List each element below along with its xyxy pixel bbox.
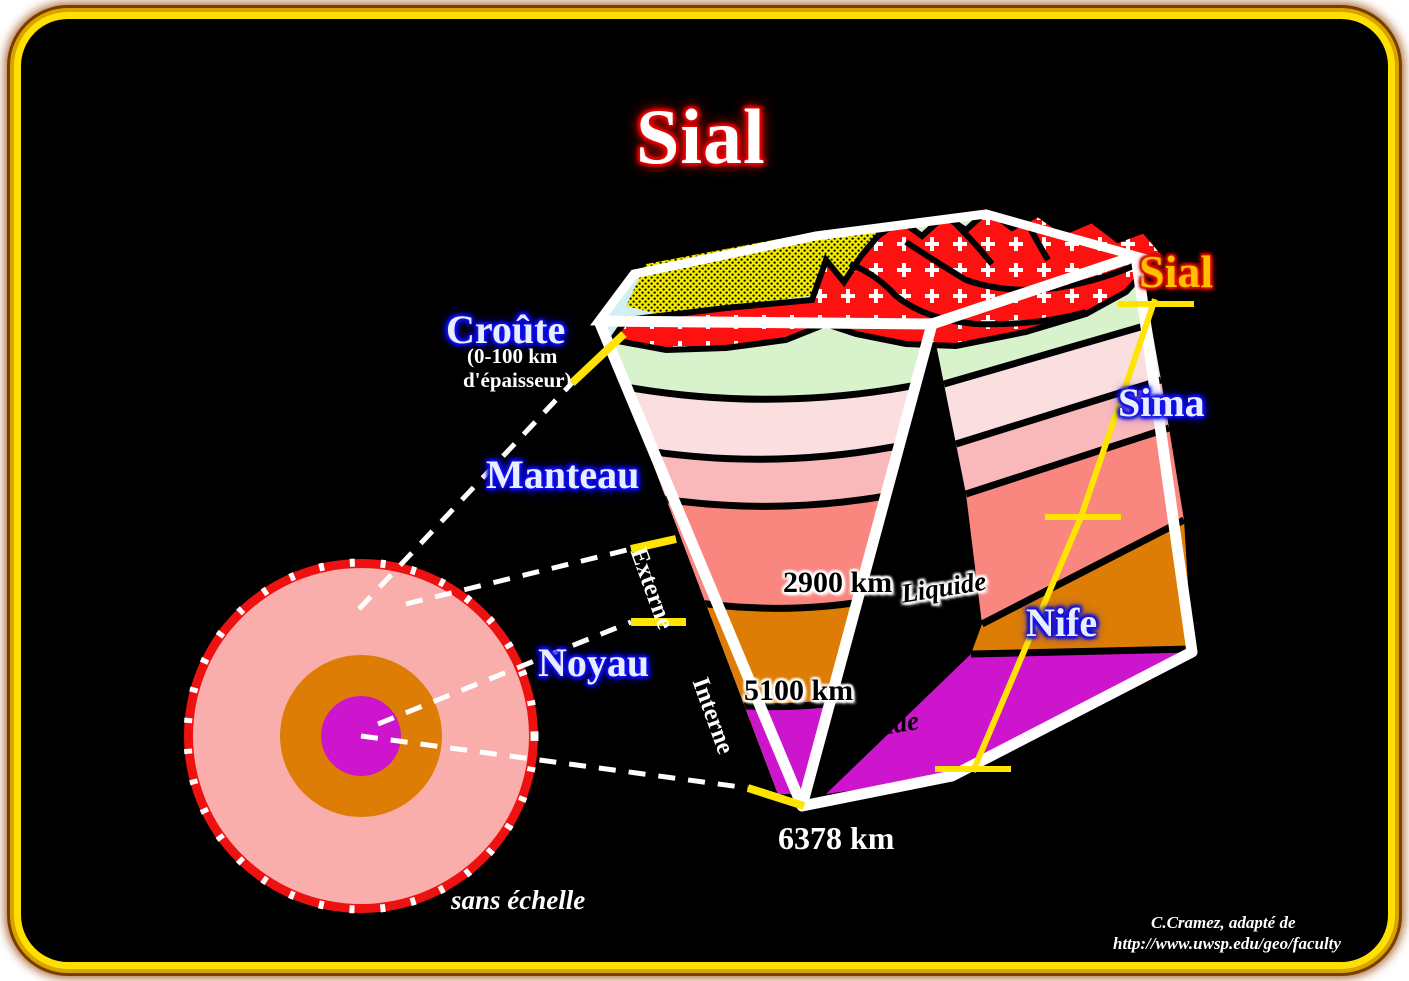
diagram-area: Sial Croûte (0-100 km d'épaisseur) Mante…	[26, 24, 1383, 957]
figure-title: Sial	[636, 92, 766, 182]
label-depth-6378: 6378 km	[778, 820, 894, 857]
credit-url: http://www.uwsp.edu/geo/faculty	[1113, 934, 1341, 954]
label-croute-sub-line2: d'épaisseur)	[463, 368, 572, 393]
label-nife-right: Nife	[1026, 599, 1097, 646]
caption-sans-echelle: sans échelle	[451, 885, 585, 916]
label-depth-2900: 2900 km	[783, 566, 892, 600]
label-croute-sub-line1: (0-100 km	[467, 344, 557, 369]
label-manteau: Manteau	[486, 451, 639, 498]
label-sial-right: Sial	[1139, 245, 1213, 298]
label-sima-right: Sima	[1118, 379, 1205, 426]
figure-canvas: Sial Croûte (0-100 km d'épaisseur) Mante…	[0, 0, 1409, 981]
credit-author: C.Cramez, adapté de	[1151, 913, 1296, 933]
label-depth-5100: 5100 km	[744, 674, 853, 708]
mantle-leader-dashed	[406, 549, 631, 604]
label-noyau: Noyau	[538, 639, 649, 686]
